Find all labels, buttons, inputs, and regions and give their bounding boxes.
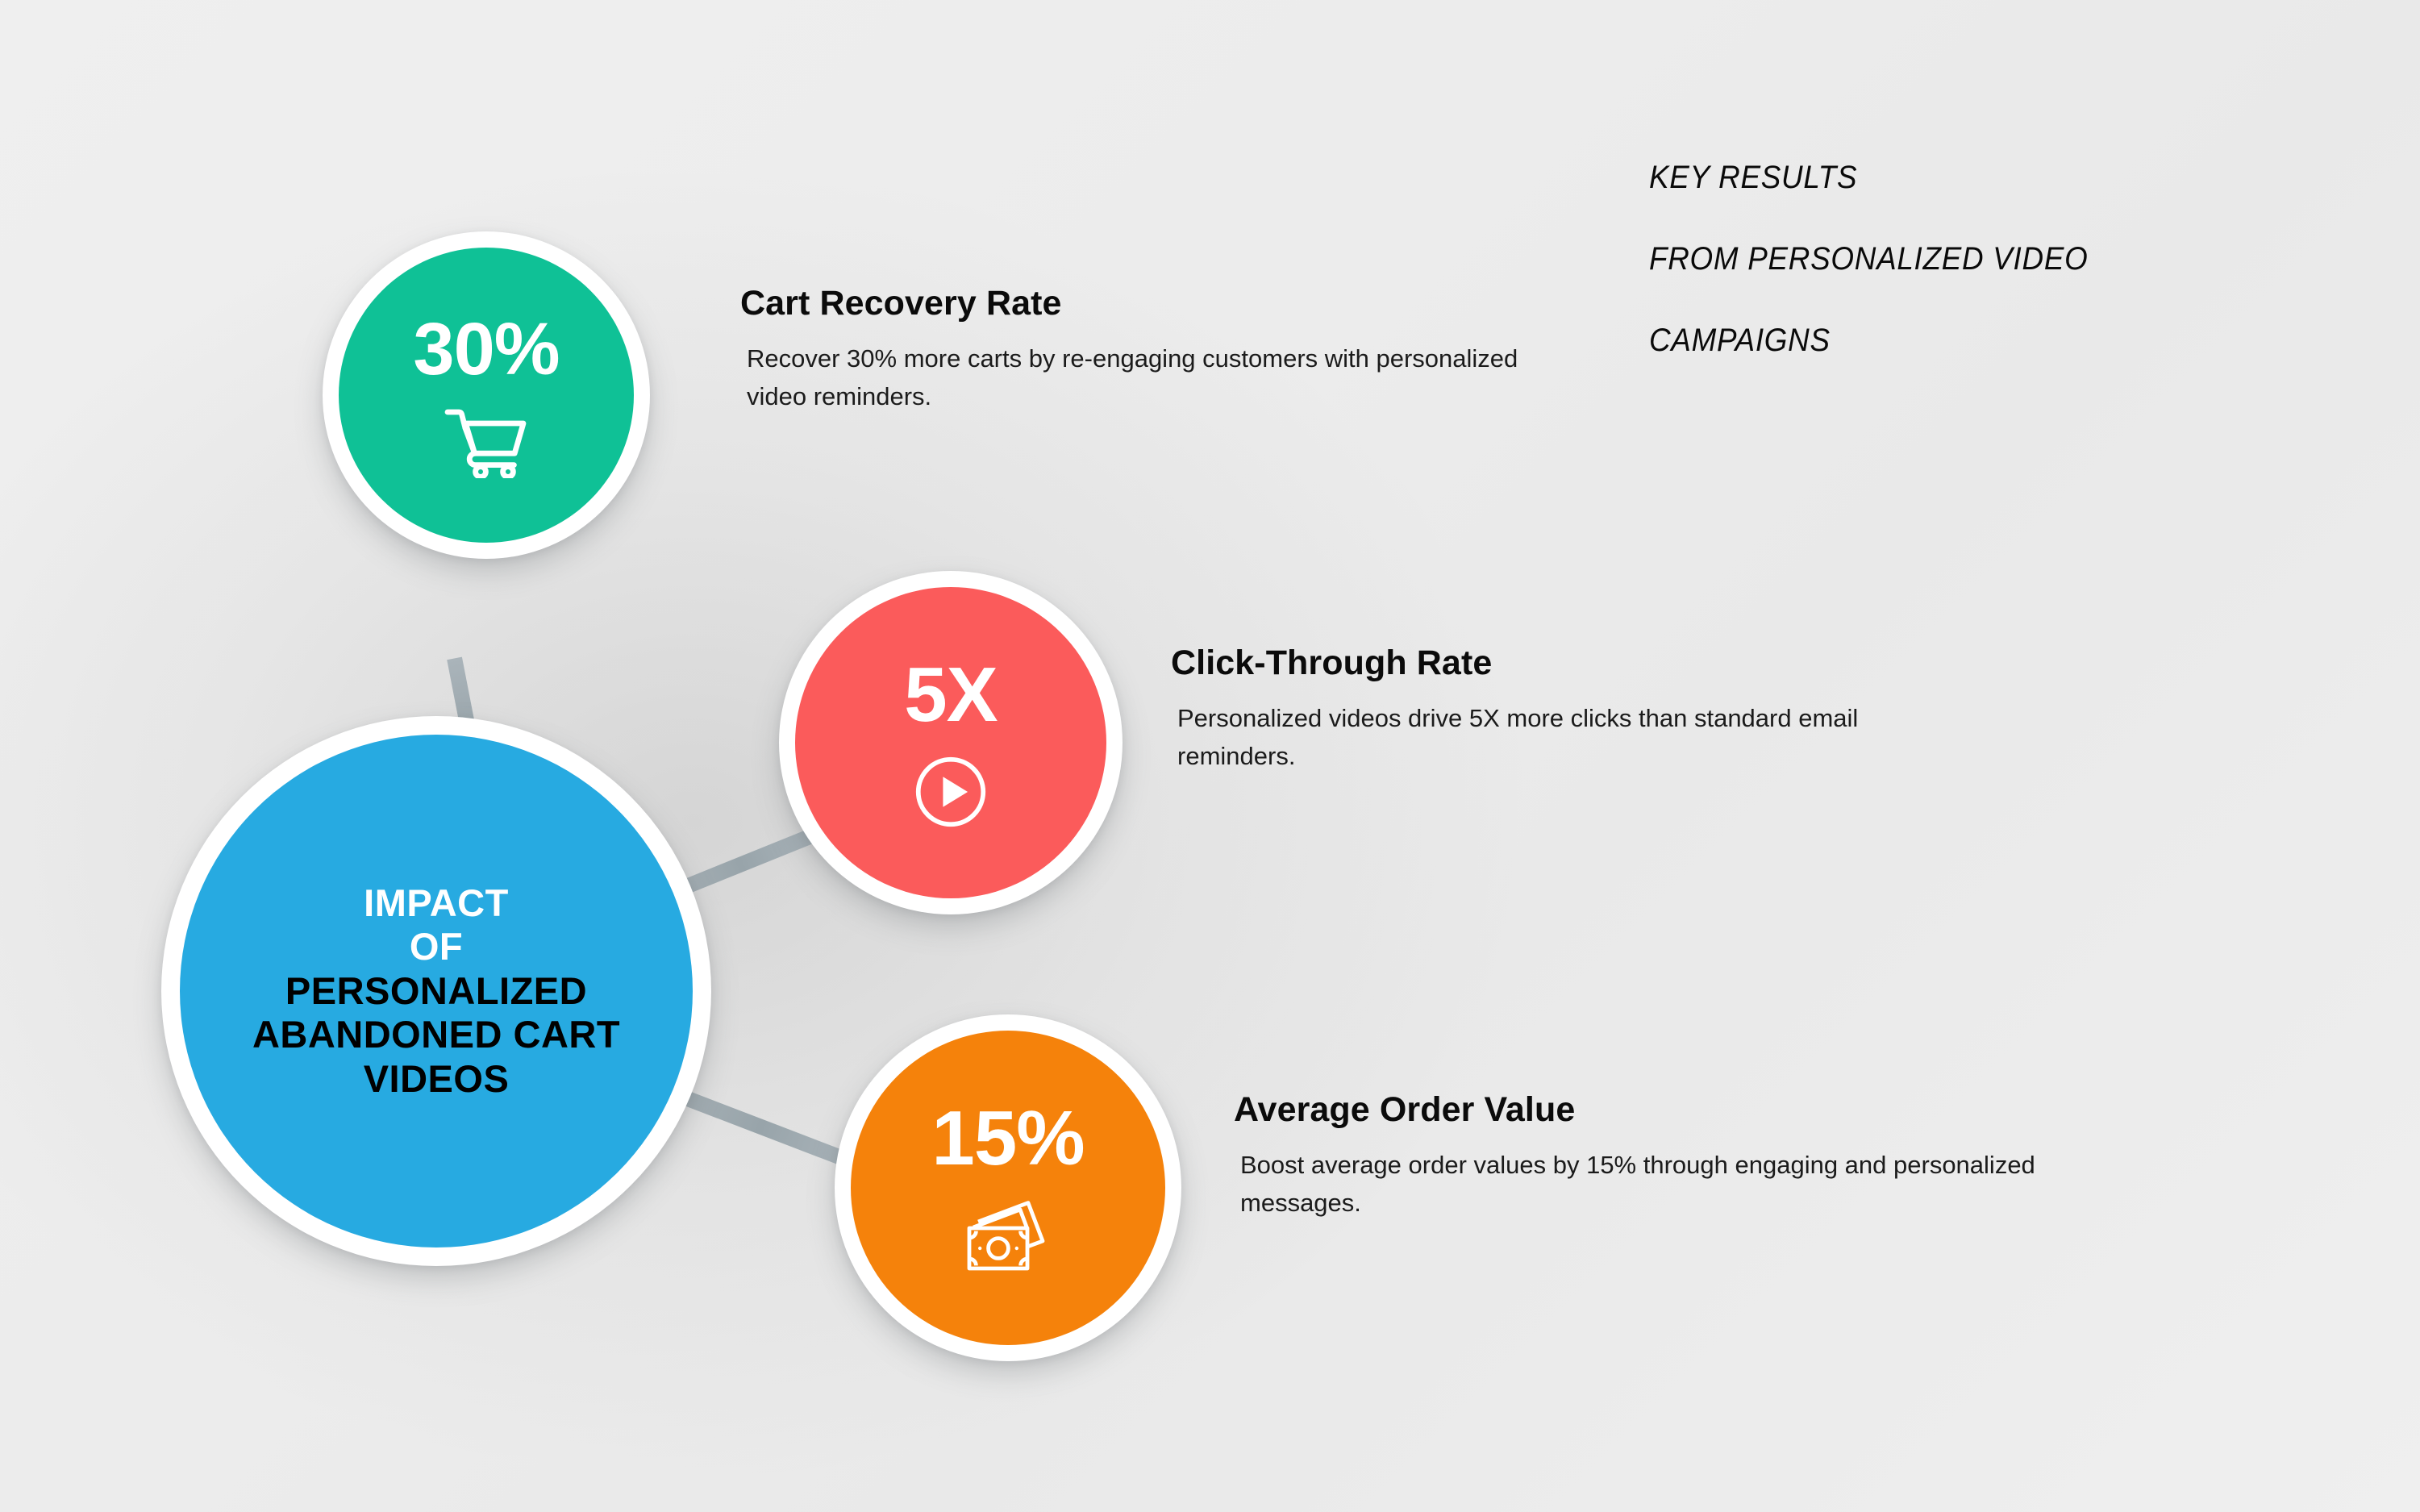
body-cart-recovery: Recover 30% more carts by re-engaging cu… bbox=[747, 339, 1547, 415]
hub-disc: IMPACT OF PERSONALIZED ABANDONED CART VI… bbox=[180, 735, 693, 1248]
hub-circle[interactable]: IMPACT OF PERSONALIZED ABANDONED CART VI… bbox=[161, 716, 711, 1266]
shopping-cart-icon bbox=[444, 407, 528, 478]
headline: KEY RESULTS FROM PERSONALIZED VIDEO CAMP… bbox=[1649, 161, 2126, 356]
banknotes-icon bbox=[963, 1198, 1053, 1276]
headline-line-1: KEY RESULTS bbox=[1649, 161, 2088, 194]
node-click-through[interactable]: 5X bbox=[779, 571, 1123, 914]
hub-line-4: ABANDONED CART bbox=[252, 1013, 620, 1057]
hub-line-1: IMPACT bbox=[364, 881, 509, 926]
heading-average-order-value: Average Order Value bbox=[1234, 1090, 2056, 1130]
headline-line-3: CAMPAIGNS bbox=[1649, 324, 2088, 356]
text-block-average-order-value: Average Order Value Boost average order … bbox=[1234, 1090, 2056, 1222]
node-average-order-value-disc: 15% bbox=[851, 1031, 1165, 1345]
node-click-through-disc: 5X bbox=[795, 587, 1106, 898]
text-block-cart-recovery: Cart Recovery Rate Recover 30% more cart… bbox=[740, 284, 1547, 415]
node-cart-recovery-value: 30% bbox=[413, 312, 559, 386]
heading-cart-recovery: Cart Recovery Rate bbox=[740, 284, 1547, 323]
node-click-through-value: 5X bbox=[904, 656, 997, 734]
node-cart-recovery-disc: 30% bbox=[339, 248, 634, 543]
text-block-click-through: Click-Through Rate Personalized videos d… bbox=[1171, 644, 1977, 775]
infographic-canvas: IMPACT OF PERSONALIZED ABANDONED CART VI… bbox=[0, 0, 2420, 1512]
heading-click-through: Click-Through Rate bbox=[1171, 644, 1977, 683]
node-average-order-value[interactable]: 15% bbox=[835, 1014, 1181, 1361]
node-cart-recovery[interactable]: 30% bbox=[323, 231, 650, 559]
play-circle-icon bbox=[914, 755, 988, 829]
headline-line-2: FROM PERSONALIZED VIDEO bbox=[1649, 243, 2088, 275]
connector-hub-to-average-order-value bbox=[669, 1085, 855, 1169]
hub-line-2: OF bbox=[410, 925, 463, 969]
hub-line-5: VIDEOS bbox=[364, 1057, 510, 1102]
hub-line-3: PERSONALIZED bbox=[285, 969, 587, 1014]
body-average-order-value: Boost average order values by 15% throug… bbox=[1240, 1146, 2056, 1222]
node-average-order-value-value: 15% bbox=[931, 1100, 1084, 1177]
body-click-through: Personalized videos drive 5X more clicks… bbox=[1177, 699, 1977, 775]
